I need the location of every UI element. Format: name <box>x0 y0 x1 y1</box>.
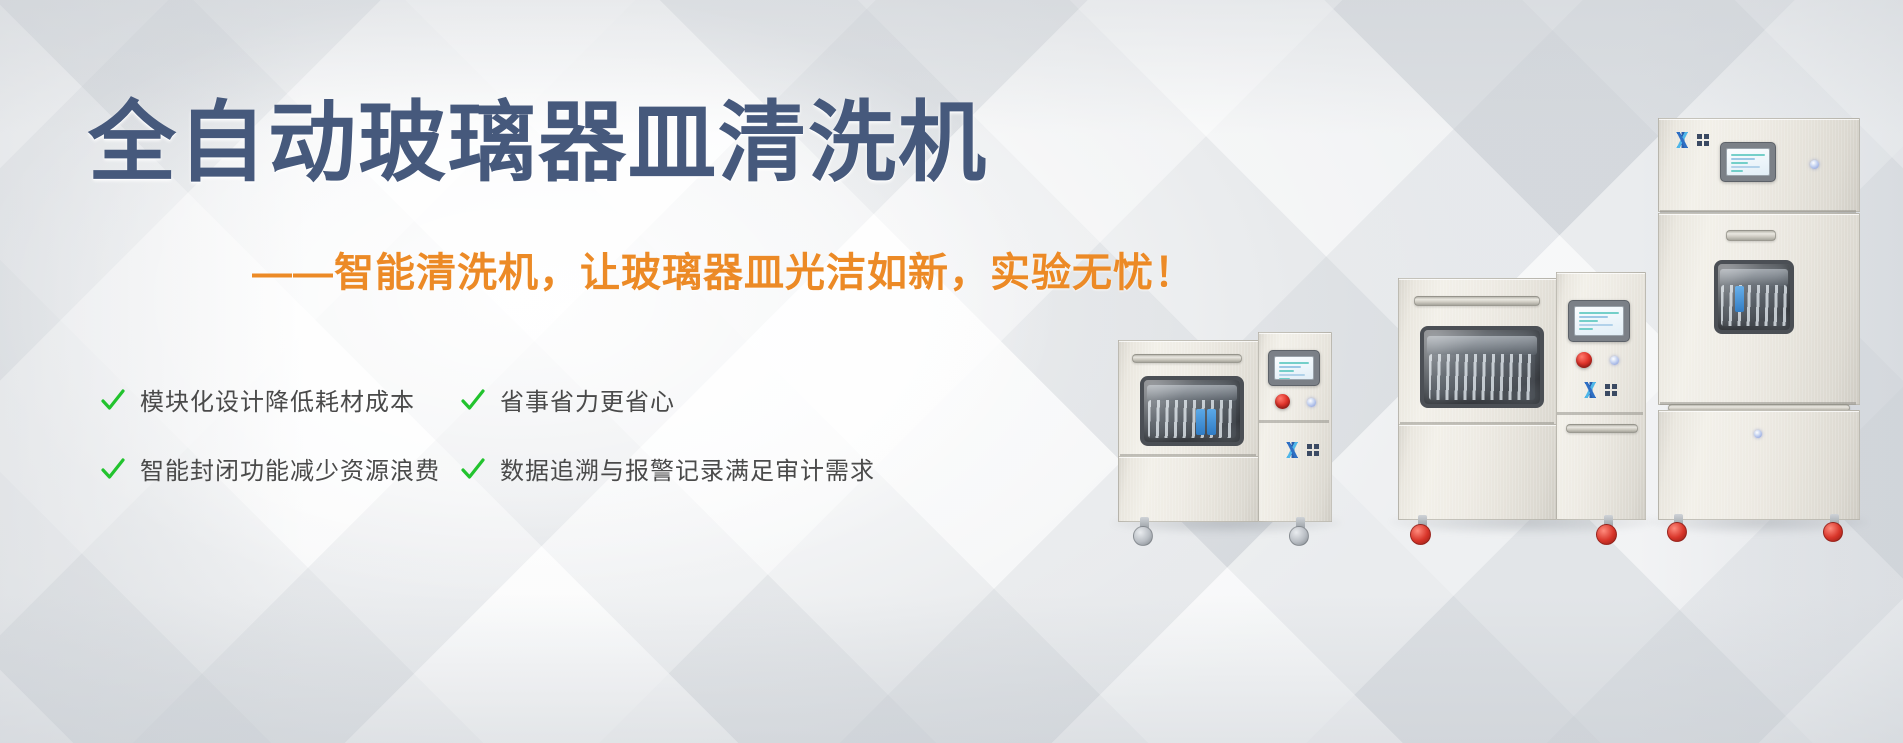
power-indicator-light <box>1610 356 1619 365</box>
caster-wheel <box>1133 526 1153 546</box>
feature-label: 模块化设计降低耗材成本 <box>140 382 415 417</box>
feature-list: 模块化设计降低耗材成本 省事省力更省心 智能封闭功能减少资源浪费 <box>100 382 1000 520</box>
chamber-viewing-window <box>1420 326 1544 408</box>
feature-row: 模块化设计降低耗材成本 省事省力更省心 <box>100 382 1000 417</box>
cabinet-lock-indicator <box>1754 430 1762 438</box>
product-tall-column-glassware-washer <box>1658 118 1858 518</box>
lower-cabinet <box>1658 410 1860 520</box>
caster-wheel <box>1410 524 1431 545</box>
feature-item: 智能封闭功能减少资源浪费 <box>100 451 460 486</box>
touchscreen-display <box>1274 356 1314 380</box>
touchscreen-hmi[interactable] <box>1720 142 1776 182</box>
brand-logo-blocks <box>1307 444 1319 456</box>
lower-access-panel <box>1398 424 1558 520</box>
banner-text-content: 全自动玻璃器皿清洗机 ——智能清洗机，让玻璃器皿光洁如新，实验无忧！ 模块化设计… <box>0 0 1100 743</box>
panel-seam <box>1557 412 1643 415</box>
caster-wheel <box>1289 526 1309 546</box>
feature-label: 智能封闭功能减少资源浪费 <box>140 451 440 486</box>
emergency-stop-button[interactable] <box>1275 394 1290 409</box>
window-glass-glare <box>1424 330 1540 404</box>
window-glass-glare <box>1718 264 1790 330</box>
feature-label: 省事省力更省心 <box>500 382 675 417</box>
feature-item: 数据追溯与报警记录满足审计需求 <box>460 451 960 486</box>
touchscreen-display <box>1726 148 1770 176</box>
window-glass-glare <box>1144 380 1240 442</box>
brand-logo <box>1580 382 1617 398</box>
brand-logo-mark <box>1580 382 1602 398</box>
panel-seam <box>1259 420 1329 423</box>
feature-item: 省事省力更省心 <box>460 382 960 417</box>
touchscreen-display <box>1574 306 1624 336</box>
chamber-door-handle <box>1132 354 1242 363</box>
power-indicator-light <box>1810 160 1819 169</box>
check-icon <box>100 387 126 413</box>
brand-logo <box>1672 132 1709 148</box>
chamber-viewing-window <box>1714 260 1794 334</box>
feature-row: 智能封闭功能减少资源浪费 数据追溯与报警记录满足审计需求 <box>100 451 1000 486</box>
power-indicator-light <box>1307 398 1316 407</box>
feature-label: 数据追溯与报警记录满足审计需求 <box>500 451 875 486</box>
lower-access-panel <box>1118 456 1260 522</box>
chamber-viewing-window <box>1140 376 1244 446</box>
caster-wheel <box>1667 522 1687 542</box>
check-icon <box>100 456 126 482</box>
brand-logo-mark <box>1282 442 1304 458</box>
page-title: 全自动玻璃器皿清洗机 <box>88 96 988 189</box>
caster-wheel <box>1596 524 1617 545</box>
lower-drawer-handle <box>1566 424 1638 433</box>
product-freestanding-glassware-washer <box>1398 272 1644 520</box>
brand-logo-mark <box>1672 132 1694 148</box>
caster-wheel <box>1823 522 1843 542</box>
page-subtitle: ——智能清洗机，让玻璃器皿光洁如新，实验无忧！ <box>252 240 1195 298</box>
emergency-stop-button[interactable] <box>1576 352 1592 368</box>
promo-banner: 全自动玻璃器皿清洗机 ——智能清洗机，让玻璃器皿光洁如新，实验无忧！ 模块化设计… <box>0 0 1903 743</box>
product-undercounter-glassware-washer <box>1118 332 1330 522</box>
check-icon <box>460 456 486 482</box>
chamber-door-handle <box>1726 230 1776 241</box>
brand-logo-blocks <box>1605 384 1617 396</box>
chamber-door-handle <box>1414 296 1540 306</box>
touchscreen-hmi[interactable] <box>1268 350 1320 386</box>
brand-logo-blocks <box>1697 134 1709 146</box>
feature-item: 模块化设计降低耗材成本 <box>100 382 460 417</box>
touchscreen-hmi[interactable] <box>1568 300 1630 342</box>
check-icon <box>460 387 486 413</box>
brand-logo <box>1282 442 1319 458</box>
